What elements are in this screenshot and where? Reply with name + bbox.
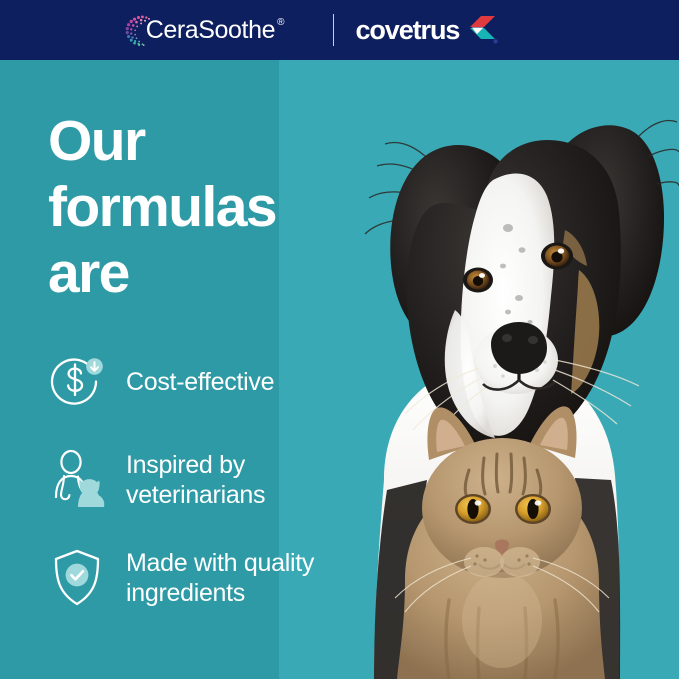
benefit-item-inspired-by-veterinarians: Inspired byveterinarians <box>46 443 376 517</box>
benefit-label-line-1: Inspired by <box>126 451 245 479</box>
benefit-label-inspired-by-veterinarians: Inspired byveterinarians <box>126 450 265 511</box>
veterinarian-with-cat-icon <box>46 447 108 513</box>
benefits-list: Cost-effective Inspi <box>46 345 376 639</box>
headline-line-3: are <box>48 240 276 306</box>
cerasoothe-wordmark: CeraSoothe <box>146 16 275 45</box>
brand-header-bar: CeraSoothe ® covetrus <box>0 0 679 60</box>
brand-divider <box>333 14 334 46</box>
benefit-item-cost-effective: Cost-effective <box>46 345 376 419</box>
headline-line-1: Our <box>48 108 276 174</box>
benefit-item-made-with-quality-ingredients: Made with qualityingredients <box>46 541 376 615</box>
covetrus-logo: covetrus <box>356 15 556 46</box>
covetrus-diamond-mark-icon <box>465 15 499 45</box>
benefit-label-line-1: Made with quality <box>126 549 314 577</box>
cerasoothe-logo: CeraSoothe ® <box>124 7 311 53</box>
dog-right-eye <box>541 243 573 270</box>
promotional-banner: CeraSoothe ® covetrus Our formulas are <box>0 0 679 679</box>
cerasoothe-registered-mark: ® <box>277 17 284 28</box>
covetrus-brand: covetrus <box>356 15 556 46</box>
page-title: Our formulas are <box>48 108 276 306</box>
cerasoothe-brand: CeraSoothe ® <box>124 7 311 53</box>
cat-right-eye <box>515 494 551 524</box>
shield-check-icon <box>46 545 108 611</box>
benefit-label-line-2: veterinarians <box>126 481 265 509</box>
covetrus-wordmark: covetrus <box>356 15 460 46</box>
headline-line-2: formulas <box>48 174 276 240</box>
benefit-label-cost-effective: Cost-effective <box>126 367 274 398</box>
dollar-coin-down-arrow-icon <box>46 349 108 415</box>
dog-left-eye <box>463 268 493 293</box>
cat-left-eye <box>455 494 491 524</box>
benefit-label-made-with-quality-ingredients: Made with qualityingredients <box>126 548 314 609</box>
benefit-label-line-2: ingredients <box>126 579 245 607</box>
